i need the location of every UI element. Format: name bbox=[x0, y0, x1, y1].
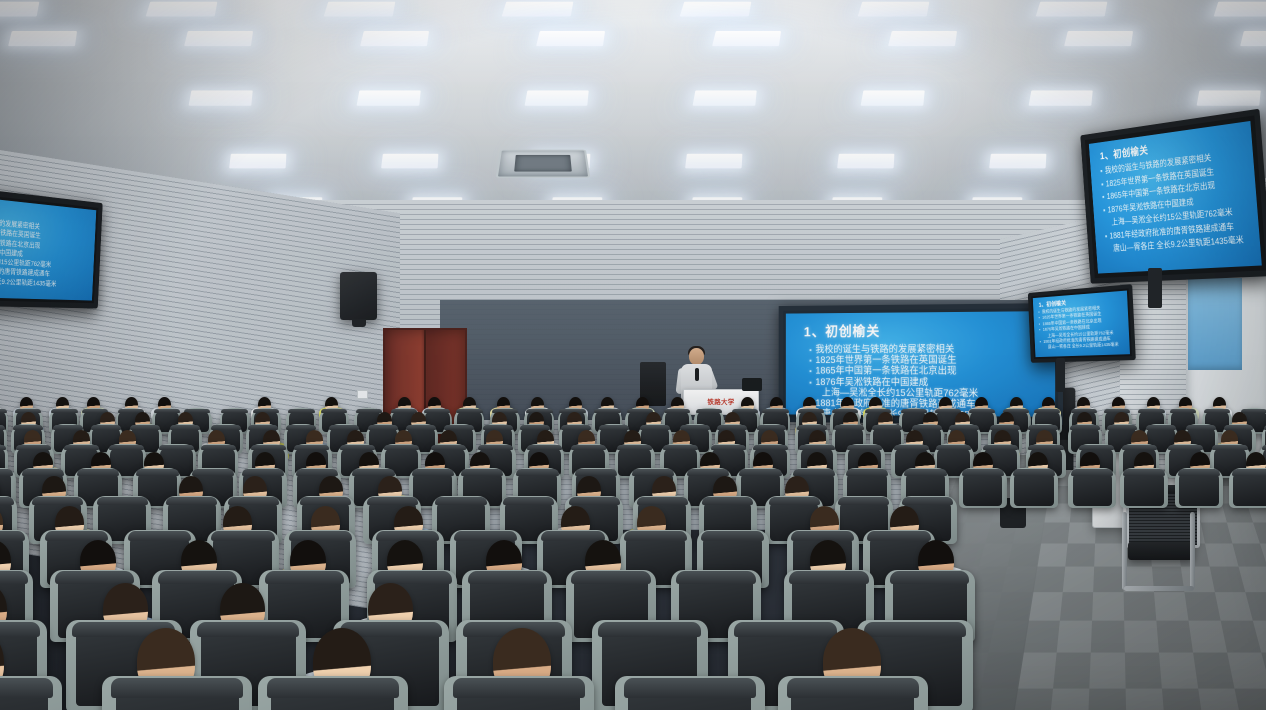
seat-headrest-cap bbox=[248, 425, 278, 430]
monitor-bezel bbox=[1080, 109, 1266, 284]
seat-headrest-cap bbox=[894, 445, 929, 451]
ceiling-light-panel bbox=[685, 154, 742, 169]
seat-headrest-cap bbox=[211, 425, 241, 430]
seat-headrest-cap bbox=[664, 409, 690, 413]
seat-headrest-cap bbox=[520, 425, 550, 430]
seat-headrest-cap bbox=[221, 409, 247, 413]
ceiling-light-panel bbox=[229, 154, 286, 169]
seat-headrest-cap bbox=[22, 469, 64, 476]
ceiling-light-panel bbox=[0, 2, 39, 17]
seat-headrest-cap bbox=[1138, 409, 1164, 413]
seat-backrest bbox=[1073, 471, 1112, 505]
seat-headrest-cap bbox=[637, 497, 688, 505]
seat-headrest-cap bbox=[158, 571, 237, 583]
seat-headrest-cap bbox=[289, 531, 352, 541]
seat-headrest-cap bbox=[170, 425, 200, 430]
seat-headrest-cap bbox=[431, 445, 466, 451]
seat-headrest-cap bbox=[159, 445, 194, 451]
seat-headrest-cap bbox=[787, 678, 919, 698]
seat-headrest-cap bbox=[1071, 469, 1113, 476]
seat-headrest-cap bbox=[867, 531, 930, 541]
auditorium-seat[interactable] bbox=[1120, 468, 1168, 508]
seat-headrest-cap bbox=[516, 469, 558, 476]
seat-headrest-cap bbox=[1186, 425, 1216, 430]
seat-headrest-cap bbox=[983, 445, 1018, 451]
seat-headrest-cap bbox=[267, 678, 399, 698]
seat-headrest-cap bbox=[936, 445, 971, 451]
seat-headrest-cap bbox=[1123, 469, 1165, 476]
seat-headrest-cap bbox=[286, 425, 316, 430]
monitor-mid-right-mount bbox=[1056, 358, 1065, 392]
seat-headrest-cap bbox=[352, 469, 394, 476]
seat-headrest-cap bbox=[1028, 445, 1063, 451]
seat-headrest-cap bbox=[640, 425, 670, 430]
seat-headrest-cap bbox=[16, 445, 51, 451]
seat-headrest-cap bbox=[1028, 425, 1058, 430]
seat-headrest-cap bbox=[717, 425, 747, 430]
auditorium-seat[interactable] bbox=[1229, 468, 1266, 508]
seat-headrest-cap bbox=[569, 497, 620, 505]
auditorium-seat[interactable] bbox=[0, 676, 62, 710]
seat-headrest-cap bbox=[435, 497, 486, 505]
seat-headrest-cap bbox=[373, 571, 452, 583]
monitor-bezel bbox=[0, 183, 103, 308]
seat-headrest-cap bbox=[251, 445, 286, 451]
seat-headrest-cap bbox=[797, 425, 827, 430]
seat-headrest-cap bbox=[838, 497, 889, 505]
seat-headrest-cap bbox=[0, 497, 14, 505]
ceiling-light-panel bbox=[1064, 31, 1133, 46]
seat-headrest-cap bbox=[1034, 409, 1060, 413]
seat-headrest-cap bbox=[702, 497, 753, 505]
seat-headrest-cap bbox=[154, 409, 180, 413]
seat-headrest-cap bbox=[77, 469, 119, 476]
seat-headrest-cap bbox=[296, 469, 338, 476]
seat-headrest-cap bbox=[1168, 445, 1203, 451]
seat-headrest-cap bbox=[0, 622, 40, 638]
seat-headrest-cap bbox=[791, 531, 854, 541]
seat-headrest-cap bbox=[406, 425, 436, 430]
seat-headrest-cap bbox=[391, 409, 417, 413]
lecture-hall-photo: 1、初创榆关 我校的诞生与铁路的发展紧密相关1825年世界第一条铁路在英国诞生1… bbox=[0, 0, 1266, 710]
seat-headrest-cap bbox=[890, 571, 969, 583]
seat-headrest-cap bbox=[912, 425, 942, 430]
seat-headrest-cap bbox=[949, 425, 979, 430]
seat-headrest-cap bbox=[288, 409, 314, 413]
seat-headrest-cap bbox=[701, 531, 764, 541]
seat-headrest-cap bbox=[242, 469, 284, 476]
seat-headrest-cap bbox=[265, 571, 344, 583]
seat-headrest-cap bbox=[1013, 469, 1055, 476]
seat-headrest-cap bbox=[541, 531, 604, 541]
slide-bullet: 1865年中国第一条铁路在北京出现 bbox=[809, 366, 1047, 377]
seat-headrest-cap bbox=[91, 425, 121, 430]
slide-bullet: 1825年世界第一条铁路在英国诞生 bbox=[809, 355, 1047, 366]
seat-headrest-cap bbox=[901, 409, 927, 413]
seat-headrest-cap bbox=[575, 469, 617, 476]
seat-headrest-cap bbox=[32, 497, 83, 505]
seat-headrest-cap bbox=[757, 425, 787, 430]
ceiling-light-panel bbox=[858, 2, 930, 17]
seat-headrest-cap bbox=[1107, 425, 1137, 430]
slide-title: 1、初创榆关 bbox=[804, 321, 880, 341]
seat-headrest-cap bbox=[300, 497, 351, 505]
auditorium-seat[interactable] bbox=[959, 468, 1007, 508]
seat-headrest-cap bbox=[166, 497, 217, 505]
ceiling-light-panel bbox=[693, 90, 757, 105]
monitor-upper-right: 1、初创榆关 我校的诞生与铁路的发展紧密相关1825年世界第一条铁路在英国诞生1… bbox=[1080, 109, 1266, 284]
seat-headrest-cap bbox=[904, 469, 946, 476]
seat-headrest-cap bbox=[483, 425, 513, 430]
ceiling-light-panel bbox=[837, 154, 894, 169]
ceiling-light-panel bbox=[712, 31, 781, 46]
seat-headrest-cap bbox=[902, 497, 953, 505]
seat-headrest-cap bbox=[617, 445, 652, 451]
seat-headrest-cap bbox=[228, 497, 279, 505]
seat-headrest-cap bbox=[561, 425, 591, 430]
auditorium-seat[interactable] bbox=[444, 676, 594, 710]
ceiling-light-panel bbox=[989, 154, 1046, 169]
seat-headrest-cap bbox=[0, 445, 6, 451]
ceiling-light-panel bbox=[1036, 2, 1108, 17]
light-switch-plate[interactable] bbox=[357, 390, 368, 399]
seat-headrest-cap bbox=[1212, 445, 1247, 451]
slide-bullet: 我校的诞生与铁路的发展紧密相关 bbox=[809, 344, 1047, 356]
seat-headrest-cap bbox=[1204, 409, 1230, 413]
ceiling-light-panel bbox=[8, 31, 77, 46]
seat-headrest-cap bbox=[762, 409, 788, 413]
seat-backrest bbox=[1124, 471, 1163, 505]
slide-bullet: 1876年吴淞铁路在中国建成 bbox=[809, 377, 1047, 389]
seat-headrest-cap bbox=[468, 571, 547, 583]
seat-backrest bbox=[1014, 471, 1053, 505]
seat-headrest-cap bbox=[461, 469, 503, 476]
seat-headrest-cap bbox=[136, 469, 178, 476]
ceiling-light-panel bbox=[680, 2, 752, 17]
window-roller-blind[interactable] bbox=[1188, 278, 1242, 370]
chair-frame-left bbox=[1122, 512, 1127, 590]
seat-headrest-cap bbox=[864, 622, 966, 638]
seat-backrest bbox=[963, 471, 1002, 505]
seat-headrest-cap bbox=[321, 409, 347, 413]
seat-headrest-cap bbox=[368, 425, 398, 430]
monitor-mid-right: 1、初创榆关 我校的诞生与铁路的发展紧密相关1825年世界第一条铁路在英国诞生1… bbox=[1028, 284, 1136, 363]
seat-headrest-cap bbox=[527, 445, 562, 451]
seat-headrest-cap bbox=[128, 531, 191, 541]
seat-headrest-cap bbox=[51, 409, 77, 413]
seat-headrest-cap bbox=[412, 469, 454, 476]
seat-headrest-cap bbox=[384, 445, 419, 451]
monitor-upper-right-mount bbox=[1148, 268, 1162, 308]
seat-headrest-cap bbox=[687, 469, 729, 476]
seat-headrest-cap bbox=[130, 425, 160, 430]
ceiling-light-panel bbox=[1197, 90, 1261, 105]
seat-headrest-cap bbox=[799, 445, 834, 451]
chair-seat bbox=[1128, 542, 1194, 560]
seat-headrest-cap bbox=[1232, 469, 1266, 476]
seat-headrest-cap bbox=[0, 531, 25, 541]
seat-headrest-cap bbox=[696, 409, 722, 413]
seat-headrest-cap bbox=[624, 531, 687, 541]
seat-headrest-cap bbox=[197, 622, 299, 638]
seat-backrest bbox=[1179, 471, 1218, 505]
ceiling-light-panel bbox=[1214, 2, 1266, 17]
seat-headrest-cap bbox=[478, 445, 513, 451]
seat-headrest-cap bbox=[356, 409, 382, 413]
seat-headrest-cap bbox=[1262, 445, 1266, 451]
seat-headrest-cap bbox=[753, 445, 788, 451]
monitor-bezel bbox=[1028, 284, 1136, 363]
seat-headrest-cap bbox=[598, 622, 700, 638]
ceiling-light-panel bbox=[360, 31, 429, 46]
ceiling-light-panel bbox=[525, 90, 589, 105]
seat-headrest-cap bbox=[594, 409, 620, 413]
seat-headrest-cap bbox=[632, 469, 674, 476]
ceiling-light-panel bbox=[1029, 90, 1093, 105]
seat-headrest-cap bbox=[55, 571, 134, 583]
seat-headrest-cap bbox=[1224, 425, 1254, 430]
seat-headrest-cap bbox=[111, 678, 243, 698]
seat-backrest bbox=[1233, 471, 1266, 505]
seat-headrest-cap bbox=[192, 469, 234, 476]
seat-headrest-cap bbox=[1146, 425, 1176, 430]
seat-headrest-cap bbox=[834, 425, 864, 430]
seat-headrest-cap bbox=[872, 425, 902, 430]
ceiling-light-panel bbox=[502, 2, 574, 17]
auditorium-seat[interactable] bbox=[1068, 468, 1116, 508]
ceiling-light-panel bbox=[357, 90, 421, 105]
seat-headrest-cap bbox=[739, 469, 781, 476]
ceiling-light-panel bbox=[189, 90, 253, 105]
ceiling-light-panel bbox=[324, 2, 396, 17]
seat-headrest-cap bbox=[599, 425, 629, 430]
seat-headrest-cap bbox=[1178, 469, 1220, 476]
auditorium-seat[interactable] bbox=[1010, 468, 1058, 508]
chair-frame-base bbox=[1124, 586, 1194, 591]
seat-headrest-cap bbox=[711, 445, 746, 451]
seat-headrest-cap bbox=[624, 678, 756, 698]
ceiling-light-panel bbox=[888, 31, 957, 46]
auditorium-seat[interactable] bbox=[615, 676, 765, 710]
wall-speaker-left bbox=[340, 272, 377, 320]
ceiling-light-panel bbox=[146, 2, 218, 17]
seat-headrest-cap bbox=[456, 409, 482, 413]
seat-headrest-cap bbox=[340, 445, 375, 451]
seat-headrest-cap bbox=[0, 469, 13, 476]
seat-headrest-cap bbox=[769, 497, 820, 505]
seat-headrest-cap bbox=[444, 425, 474, 430]
seat-headrest-cap bbox=[109, 445, 144, 451]
seat-headrest-cap bbox=[424, 409, 450, 413]
seat-headrest-cap bbox=[1122, 445, 1157, 451]
ceiling-light-panel bbox=[861, 90, 925, 105]
microphone-icon bbox=[695, 368, 699, 381]
seat-headrest-cap bbox=[793, 469, 835, 476]
seat-headrest-cap bbox=[1170, 409, 1196, 413]
seat-headrest-cap bbox=[64, 445, 99, 451]
seat-headrest-cap bbox=[789, 571, 868, 583]
stage-monitor-small bbox=[742, 378, 762, 391]
seat-headrest-cap bbox=[734, 622, 836, 638]
seat-headrest-cap bbox=[0, 678, 53, 698]
seat-headrest-cap bbox=[571, 571, 650, 583]
ac-diffuser-large bbox=[496, 150, 591, 178]
seat-headrest-cap bbox=[13, 425, 43, 430]
seat-headrest-cap bbox=[0, 409, 7, 413]
seat-headrest-cap bbox=[962, 469, 1004, 476]
seat-headrest-cap bbox=[847, 445, 882, 451]
seat-headrest-cap bbox=[294, 445, 329, 451]
seat-headrest-cap bbox=[969, 409, 995, 413]
seat-headrest-cap bbox=[453, 678, 585, 698]
seat-headrest-cap bbox=[53, 425, 83, 430]
seat-headrest-cap bbox=[676, 571, 755, 583]
monitor-left-wall: 1、初创榆关 我校的诞生与铁路的发展紧密相关1825年世界第一条铁路在英国诞生1… bbox=[0, 183, 103, 308]
ceiling-light-panel bbox=[1240, 31, 1266, 46]
seat-headrest-cap bbox=[1079, 445, 1114, 451]
auditorium-seat[interactable] bbox=[102, 676, 252, 710]
seat-headrest-cap bbox=[935, 409, 961, 413]
auditorium-seat[interactable] bbox=[1175, 468, 1223, 508]
seat-headrest-cap bbox=[663, 445, 698, 451]
seat-headrest-cap bbox=[1070, 425, 1100, 430]
seat-headrest-cap bbox=[571, 445, 606, 451]
auditorium-seat[interactable] bbox=[258, 676, 408, 710]
seat-headrest-cap bbox=[211, 531, 274, 541]
chair-frame-right bbox=[1190, 512, 1195, 590]
seat-headrest-cap bbox=[201, 445, 236, 451]
seat-headrest-cap bbox=[329, 425, 359, 430]
seat-headrest-cap bbox=[97, 497, 148, 505]
ceiling-light-panel bbox=[536, 31, 605, 46]
seat-headrest-cap bbox=[1241, 409, 1266, 413]
seat-headrest-cap bbox=[680, 425, 710, 430]
ceiling-light-panel bbox=[381, 154, 438, 169]
seat-headrest-cap bbox=[0, 571, 28, 583]
seat-headrest-cap bbox=[367, 497, 418, 505]
auditorium-seat[interactable] bbox=[778, 676, 928, 710]
ceiling-light-panel bbox=[184, 31, 253, 46]
seat-headrest-cap bbox=[846, 469, 888, 476]
seat-headrest-cap bbox=[503, 497, 554, 505]
presenter-head bbox=[689, 348, 704, 365]
seat-headrest-cap bbox=[990, 425, 1020, 430]
